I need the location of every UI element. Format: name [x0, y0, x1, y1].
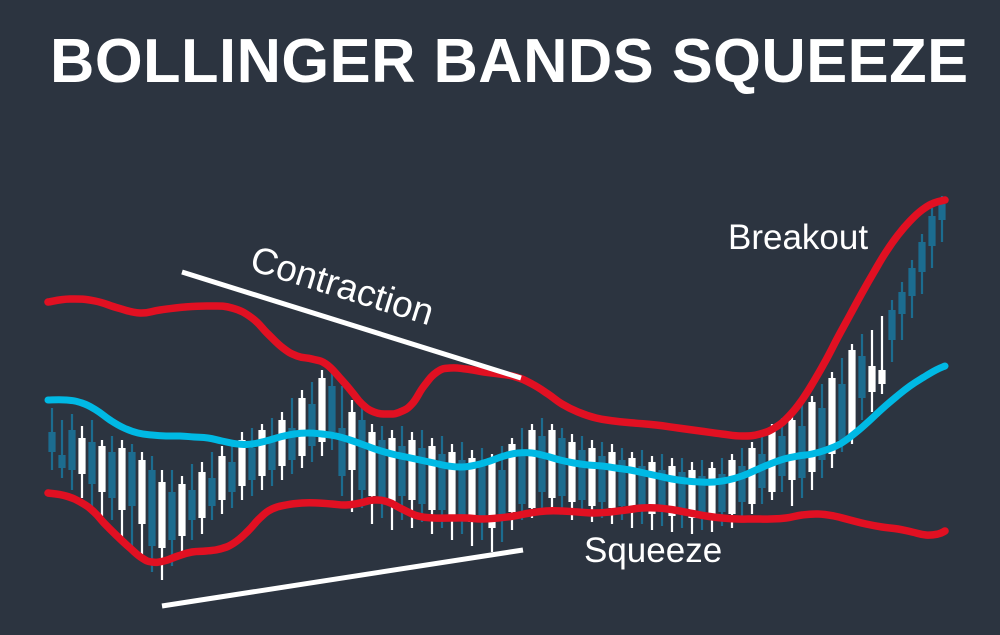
- candle-body-down: [108, 452, 115, 498]
- candle-body-up: [628, 458, 635, 512]
- candle-body-up: [138, 460, 145, 524]
- candle-body-down: [908, 268, 915, 296]
- candle-body-up: [528, 430, 535, 508]
- candle-body-up: [608, 452, 615, 508]
- candle-body-up: [368, 432, 375, 496]
- candle-body-up: [158, 482, 165, 548]
- candle-body-down: [938, 204, 945, 220]
- candle-body-up: [198, 472, 205, 518]
- candle-body-up: [448, 452, 455, 516]
- bollinger-bands-infographic: BOLLINGER BANDS SQUEEZE Contraction Brea…: [0, 0, 1000, 635]
- candle-body-down: [328, 386, 335, 432]
- candle-body-up: [298, 398, 305, 456]
- annotation-breakout: Breakout: [728, 218, 868, 258]
- candle-body-down: [888, 310, 895, 340]
- candle-body-down: [58, 455, 65, 468]
- candle-body-down: [478, 466, 485, 522]
- candle-body-up: [408, 440, 415, 500]
- candle-body-up: [708, 468, 715, 518]
- candle-body-up: [178, 484, 185, 536]
- candle-body-up: [588, 448, 595, 506]
- candle-body-down: [188, 490, 195, 520]
- candle-body-down: [358, 420, 365, 490]
- candle-body-down: [228, 462, 235, 492]
- candle-body-up: [258, 430, 265, 476]
- candle-body-up: [78, 438, 85, 474]
- candle-body-up: [118, 448, 125, 510]
- candle-body-up: [828, 378, 835, 454]
- candle-body-up: [98, 446, 105, 492]
- candle-body-down: [928, 216, 935, 246]
- candle-body-up: [868, 366, 875, 392]
- candle-body-down: [898, 292, 905, 314]
- candle-body-up: [878, 370, 885, 384]
- candle-body-up: [848, 350, 855, 436]
- candle-body-up: [788, 420, 795, 480]
- candle-body-down: [918, 242, 925, 272]
- candle-body-up: [548, 430, 555, 498]
- candle-body-down: [48, 432, 55, 452]
- candle-body-down: [558, 438, 565, 496]
- candle-body-down: [518, 452, 525, 504]
- bollinger-bands-chart: [0, 0, 1000, 635]
- squeeze-trendline: [162, 550, 523, 606]
- candle-body-up: [218, 456, 225, 500]
- candle-body-up: [278, 420, 285, 466]
- candle-body-down: [578, 450, 585, 500]
- annotation-squeeze: Squeeze: [584, 531, 722, 571]
- candle-body-down: [248, 448, 255, 480]
- candle-body-down: [168, 492, 175, 540]
- candle-body-up: [428, 446, 435, 510]
- candle-body-up: [568, 442, 575, 502]
- candle-body-down: [858, 356, 865, 398]
- candle-body-up: [728, 460, 735, 514]
- candle-body-down: [148, 470, 155, 546]
- candle-body-down: [88, 442, 95, 484]
- candle-body-down: [128, 452, 135, 506]
- candle-body-up: [388, 438, 395, 506]
- candle-body-down: [838, 384, 845, 440]
- candle-body-down: [208, 478, 215, 506]
- candle-body-down: [498, 470, 505, 518]
- candle-body-down: [308, 404, 315, 446]
- candle-body-up: [808, 402, 815, 472]
- candle-body-down: [538, 436, 545, 492]
- candle-body-down: [68, 430, 75, 470]
